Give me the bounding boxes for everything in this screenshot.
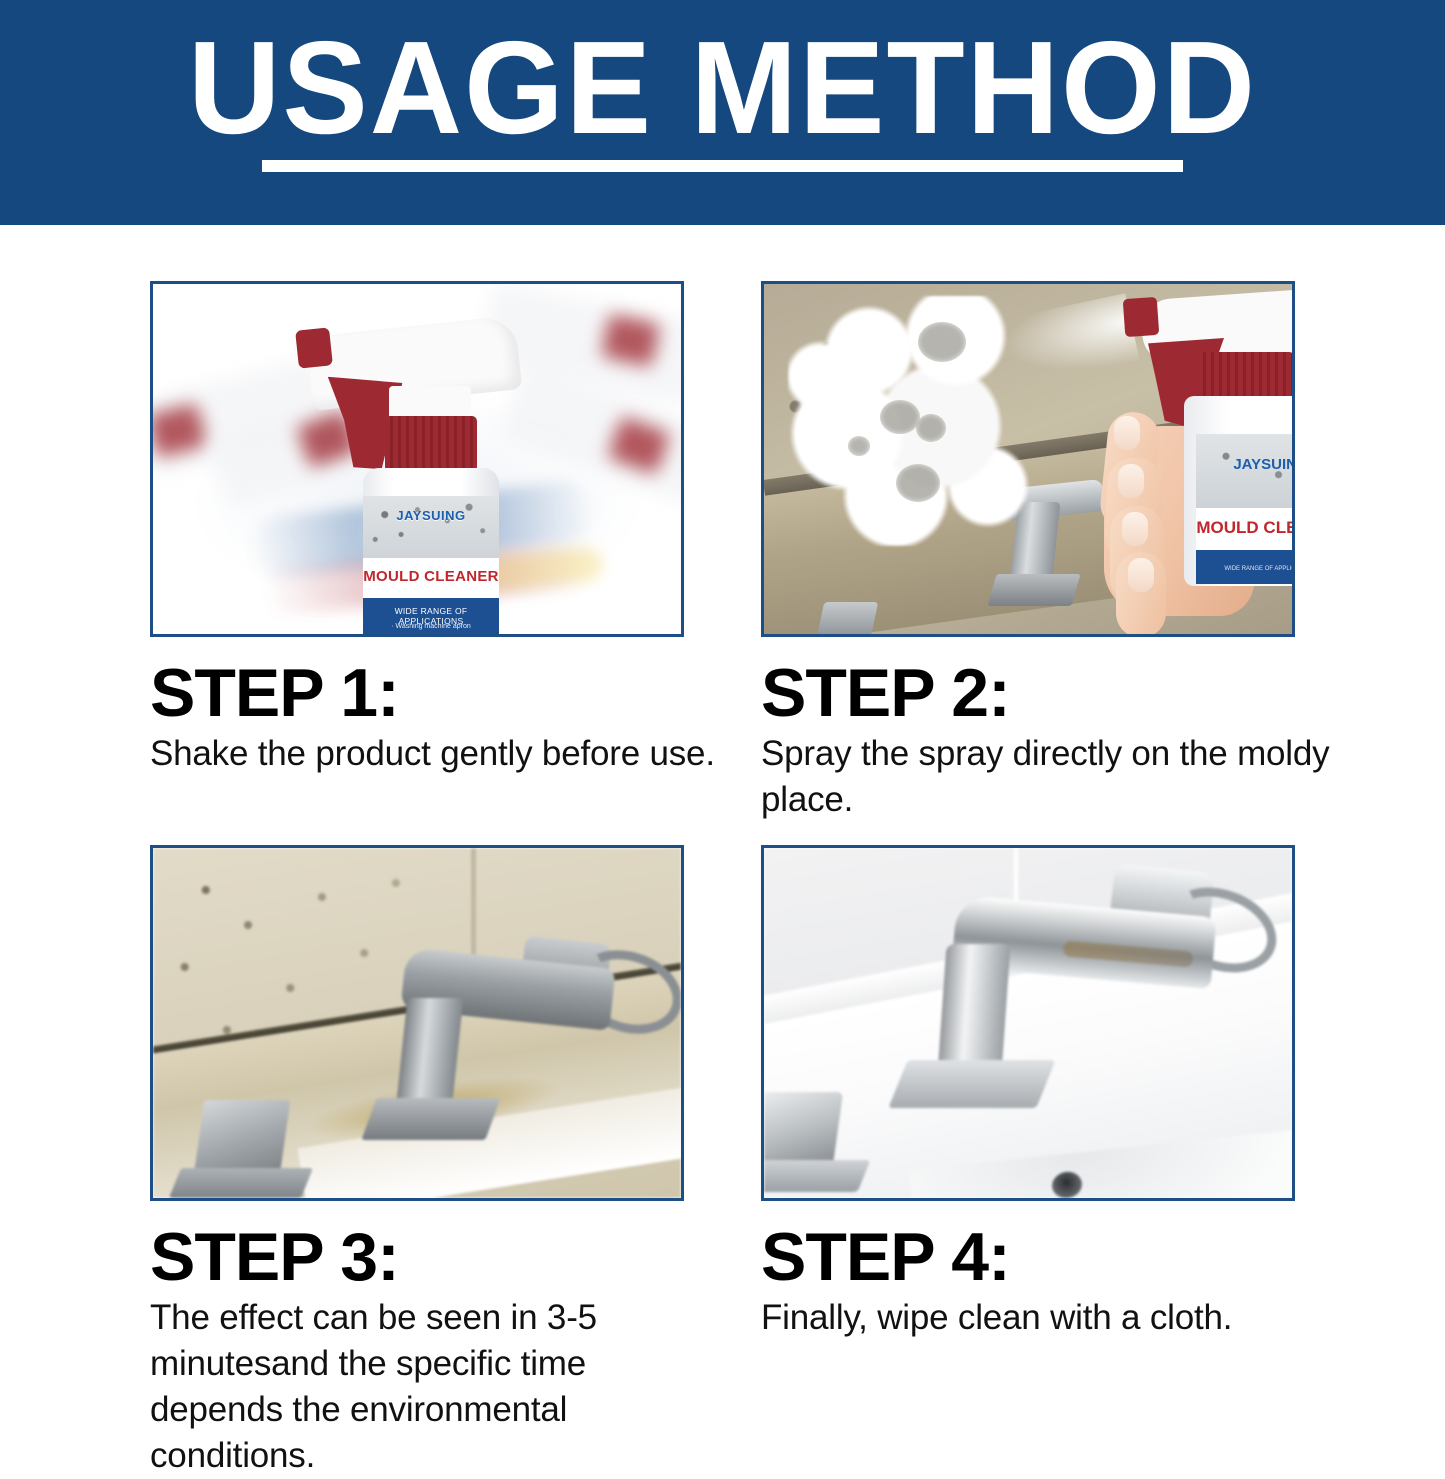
label-bullet: · Washing machine apron (363, 623, 499, 630)
label-product-name: MOULD CLEANER (1196, 518, 1292, 538)
faucet-base-plate (361, 1098, 500, 1140)
label-product-name: MOULD CLEANER (363, 568, 499, 585)
nozzle (1123, 297, 1160, 337)
dirty-faucet-photo (153, 848, 681, 1198)
step-card-4: STEP 4: Finally, wipe clean with a cloth… (761, 845, 1295, 1341)
step-2-description: Spray the spray directly on the moldy pl… (761, 731, 1331, 823)
step-3-photo-frame (150, 845, 684, 1201)
page-title: USAGE METHOD (22, 22, 1424, 154)
header-banner: USAGE METHOD (0, 0, 1445, 225)
spray-bottle: JAYSUING MOULD CLEANER WIDE RANGE OF APP… (349, 320, 509, 634)
faucet-base-plate (888, 1060, 1055, 1108)
foam-bubble (896, 464, 940, 502)
faucet-knob (764, 1092, 843, 1166)
bottle-cap (385, 416, 477, 472)
foam-bubble (880, 400, 920, 434)
label-brand-text: JAYSUING (1196, 456, 1292, 473)
faucet-knob (816, 602, 879, 634)
step-card-2: JAYSUING MOULD CLEANER WIDE RANGE OF APP… (761, 281, 1295, 823)
label-tagline: WIDE RANGE OF APPLICATIONS (1196, 566, 1292, 572)
spraying-foam-photo: JAYSUING MOULD CLEANER WIDE RANGE OF APP… (764, 284, 1292, 634)
step-4-description: Finally, wipe clean with a cloth. (761, 1295, 1331, 1341)
foam-bubble (916, 414, 946, 442)
shaking-bottle-photo: JAYSUING MOULD CLEANER WIDE RANGE OF APP… (153, 284, 681, 634)
faucet-stem (937, 944, 1010, 1074)
clean-faucet-photo (764, 848, 1292, 1198)
bottle-label: JAYSUING MOULD CLEANER WIDE RANGE OF APP… (363, 496, 499, 634)
faucet-knob (194, 1100, 291, 1176)
label-photo (363, 496, 499, 558)
foam-bubble (848, 436, 870, 456)
nozzle (295, 327, 333, 368)
title-underline-rule (262, 160, 1183, 172)
step-2-heading: STEP 2: (761, 657, 1295, 729)
step-4-heading: STEP 4: (761, 1221, 1295, 1293)
steps-grid: JAYSUING MOULD CLEANER WIDE RANGE OF APP… (0, 225, 1445, 1445)
step-card-3: STEP 3: The effect can be seen in 3-5 mi… (150, 845, 684, 1479)
bottle-cap (1198, 352, 1292, 400)
step-1-heading: STEP 1: (150, 657, 684, 729)
step-4-photo-frame (761, 845, 1295, 1201)
step-2-photo-frame: JAYSUING MOULD CLEANER WIDE RANGE OF APP… (761, 281, 1295, 637)
faucet-knob-plate (764, 1160, 870, 1192)
spray-bottle: JAYSUING MOULD CLEANER WIDE RANGE OF APP… (1096, 294, 1292, 584)
step-1-description: Shake the product gently before use. (150, 731, 725, 777)
foam-bubble (918, 322, 966, 362)
label-brand-text: JAYSUING (363, 508, 499, 523)
step-3-heading: STEP 3: (150, 1221, 684, 1293)
step-1-photo-frame: JAYSUING MOULD CLEANER WIDE RANGE OF APP… (150, 281, 684, 637)
step-3-description: The effect can be seen in 3-5 minutesand… (150, 1295, 725, 1479)
bottle-label: JAYSUING MOULD CLEANER WIDE RANGE OF APP… (1196, 434, 1292, 584)
faucet-knob-plate (169, 1168, 313, 1198)
step-card-1: JAYSUING MOULD CLEANER WIDE RANGE OF APP… (150, 281, 684, 777)
